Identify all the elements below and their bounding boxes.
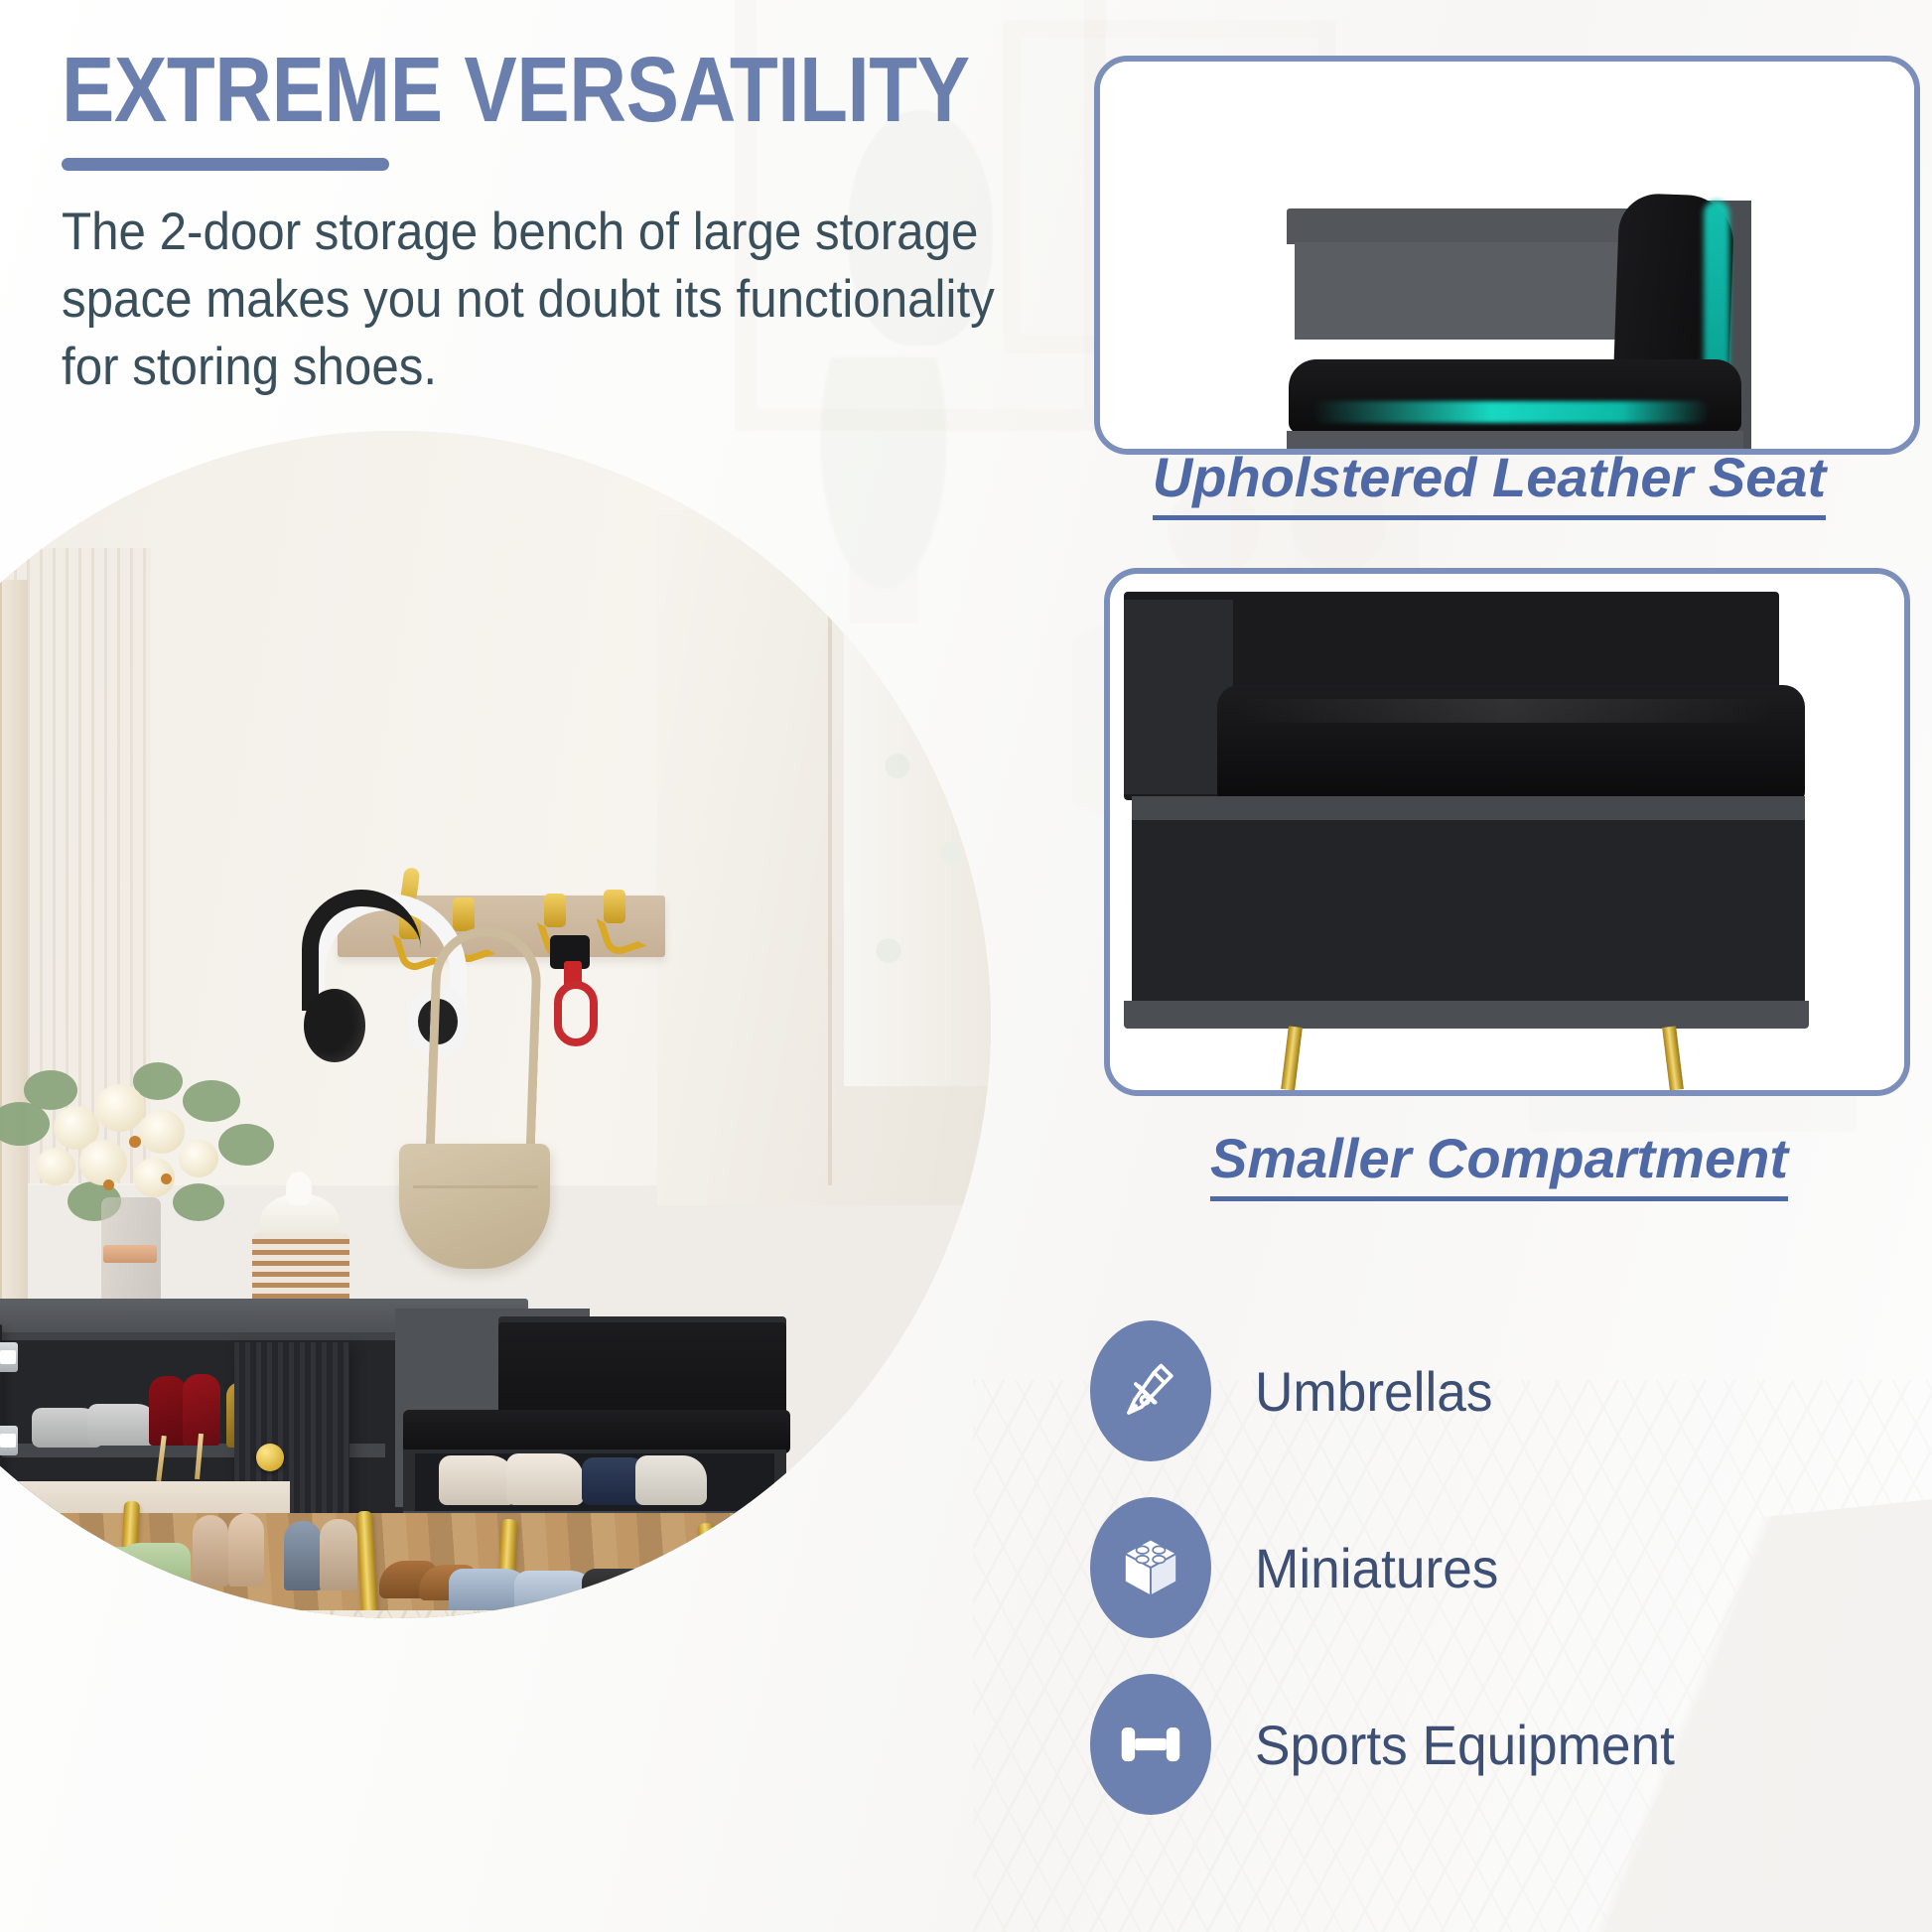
inset-card-upholstered-seat <box>1094 56 1920 455</box>
feature-label: Umbrellas <box>1255 1359 1492 1424</box>
shoe-sneaker-white <box>635 1455 707 1505</box>
body-paragraph: The 2-door storage bench of large storag… <box>62 199 1004 400</box>
cushion-highlight <box>1239 699 1775 723</box>
feature-label: Miniatures <box>1255 1536 1498 1600</box>
furniture-leg-gold <box>1662 1026 1684 1090</box>
shoe-heel-nude <box>193 1515 228 1587</box>
inset-2-caption: Smaller Compartment <box>1052 1126 1932 1201</box>
poster-canvas: EXTREME VERSATILITY The 2-door storage b… <box>0 0 1932 1932</box>
headline-block: EXTREME VERSATILITY <box>62 44 1074 171</box>
hero-photo <box>0 431 991 1618</box>
page-title: EXTREME VERSATILITY <box>62 44 932 136</box>
cabinet-hinge <box>0 1426 18 1455</box>
shoe-heel-red <box>149 1376 187 1446</box>
feature-row-miniatures: Miniatures <box>1090 1497 1511 1638</box>
handbag <box>399 1144 550 1269</box>
keychain <box>542 935 612 1046</box>
compartment-base <box>1124 1001 1809 1029</box>
furniture-leg-gold <box>1281 1026 1303 1090</box>
open-compartment <box>1132 820 1805 1005</box>
cabinet-knob-gold <box>256 1444 284 1471</box>
shoe-heel-nude <box>320 1519 357 1590</box>
area-rug <box>0 1610 955 1618</box>
bench-backrest <box>498 1322 786 1418</box>
inset-1-caption: Upholstered Leather Seat <box>1042 445 1932 520</box>
headphone-earcup-left <box>304 989 365 1062</box>
umbrella-icon <box>1090 1320 1211 1461</box>
inset-card-smaller-compartment <box>1104 568 1910 1096</box>
shoe-flat-green <box>111 1543 191 1596</box>
vase-copper-band <box>103 1245 157 1263</box>
bench-rail <box>1132 796 1805 822</box>
wall-seam <box>828 550 832 1185</box>
title-underline-rule <box>62 158 389 171</box>
inset-2-render <box>1110 574 1904 1090</box>
shoe-sneaker-cream <box>506 1453 584 1505</box>
inset-1-render <box>1100 62 1914 449</box>
cabinet-hinge <box>0 1342 18 1372</box>
window-curtain <box>844 471 991 1086</box>
handbag-flap-line <box>413 1185 538 1188</box>
dumbbell-icon <box>1090 1674 1211 1815</box>
shoe-heel-nude <box>228 1513 264 1587</box>
feature-row-umbrellas: Umbrellas <box>1090 1320 1505 1461</box>
feature-row-sports-equipment: Sports Equipment <box>1090 1674 1697 1815</box>
shoe-sneaker-cream <box>439 1455 516 1505</box>
shoe-heel-blue <box>284 1521 322 1590</box>
feature-label: Sports Equipment <box>1255 1713 1675 1777</box>
bench-leather-seat <box>403 1410 790 1453</box>
lego-brick-icon <box>1090 1497 1211 1638</box>
hero-photo-scene <box>0 431 991 1618</box>
led-glow-seat <box>1312 401 1710 423</box>
